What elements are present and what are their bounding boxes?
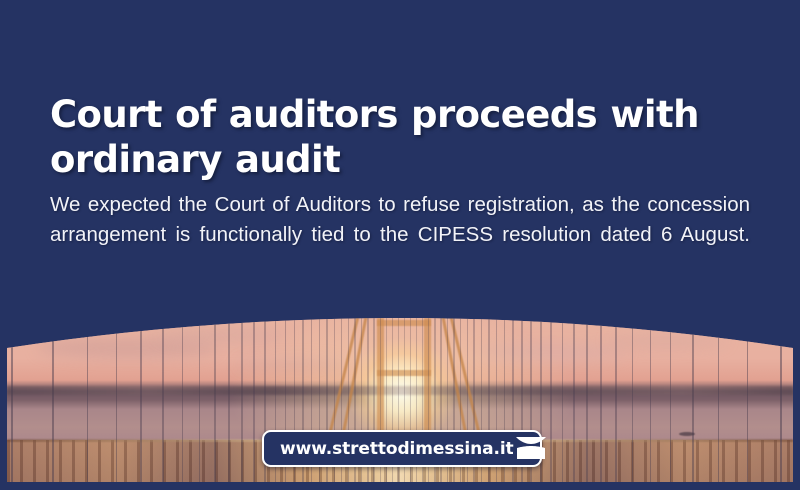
bottom-edge-strip [0, 482, 800, 490]
website-url-label: www.strettodimessina.it [280, 439, 514, 459]
article-summary: We expected the Court of Auditors to ref… [50, 190, 750, 280]
website-url-badge[interactable]: www.strettodimessina.it [262, 430, 542, 467]
bridge-arch-logo-icon [514, 436, 548, 461]
page-title: Court of auditors proceeds with ordinary… [50, 92, 750, 182]
social-card: Court of auditors proceeds with ordinary… [0, 0, 800, 490]
article-text-block: Court of auditors proceeds with ordinary… [50, 92, 750, 280]
